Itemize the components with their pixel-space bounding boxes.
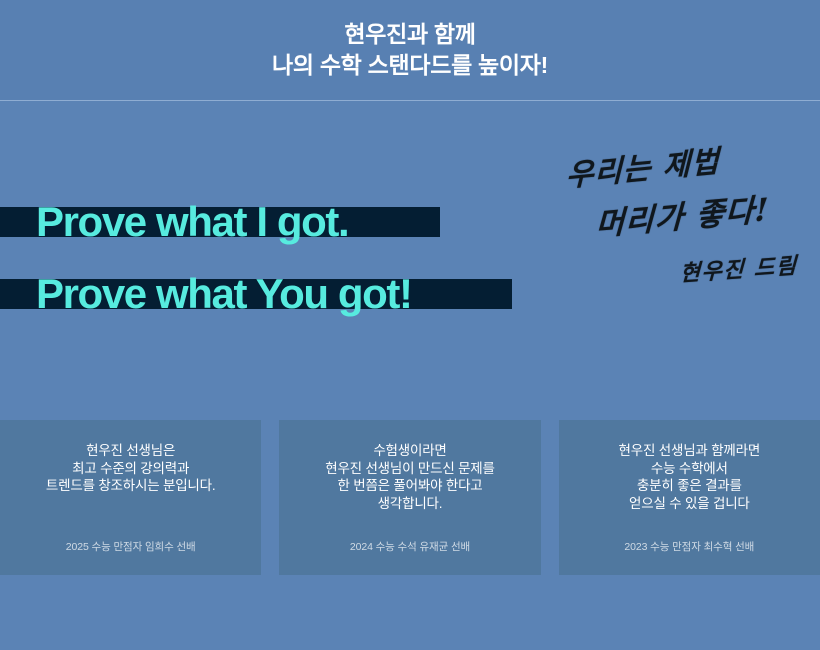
testimonial-quote-line: 생각합니다. [291, 495, 528, 513]
promo-banner-page: 현우진과 함께 나의 수학 스탠다드를 높이자! Prove what I go… [0, 0, 820, 650]
headline-text-1: Prove what I got. [36, 193, 348, 251]
testimonial-quote-line: 수능 수학에서 [571, 460, 808, 478]
page-title: 현우진과 함께 나의 수학 스탠다드를 높이자! [0, 19, 820, 81]
testimonial-attribution: 2023 수능 만점자 최수혁 선배 [559, 539, 820, 554]
testimonial-card[interactable]: 현우진 선생님과 함께라면 수능 수학에서 충분히 좋은 결과를 얻으실 수 있… [559, 420, 820, 575]
hero-section: Prove what I got. Prove what You got! 우리… [0, 101, 820, 420]
headline-text-2: Prove what You got! [36, 265, 412, 323]
banner-header: 현우진과 함께 나의 수학 스탠다드를 높이자! [0, 0, 820, 101]
testimonial-quote-line: 현우진 선생님과 함께라면 [571, 442, 808, 460]
testimonial-quote-line: 현우진 선생님이 만드신 문제를 [291, 460, 528, 478]
testimonial-card[interactable]: 수험생이라면 현우진 선생님이 만드신 문제를 한 번쯤은 풀어봐야 한다고 생… [279, 420, 540, 575]
testimonial-quote-line: 얻으실 수 있을 겁니다 [571, 495, 808, 513]
handwriting-signature: 현우진 드림 [679, 248, 798, 288]
testimonial-attribution: 2025 수능 만점자 임희수 선배 [0, 539, 261, 554]
handwriting-line-1: 우리는 제법 [566, 136, 720, 195]
page-title-line-2: 나의 수학 스탠다드를 높이자! [0, 50, 820, 81]
testimonial-card-list: 현우진 선생님은 최고 수준의 강의력과 트렌드를 창조하시는 분입니다. 20… [0, 420, 820, 575]
handwriting-line-2: 머리가 좋다! [595, 184, 770, 244]
testimonial-quote-line: 트렌드를 창조하시는 분입니다. [12, 477, 249, 495]
testimonial-quote-line: 충분히 좋은 결과를 [571, 477, 808, 495]
testimonial-quote: 현우진 선생님은 최고 수준의 강의력과 트렌드를 창조하시는 분입니다. [12, 442, 249, 495]
footer-spacer [0, 575, 820, 650]
testimonial-quote-line: 최고 수준의 강의력과 [12, 460, 249, 478]
page-title-line-1: 현우진과 함께 [0, 19, 820, 50]
testimonial-card[interactable]: 현우진 선생님은 최고 수준의 강의력과 트렌드를 창조하시는 분입니다. 20… [0, 420, 261, 575]
testimonial-quote: 현우진 선생님과 함께라면 수능 수학에서 충분히 좋은 결과를 얻으실 수 있… [571, 442, 808, 512]
testimonial-attribution: 2024 수능 수석 유재균 선배 [279, 539, 540, 554]
testimonial-quote-line: 현우진 선생님은 [12, 442, 249, 460]
testimonial-quote-line: 수험생이라면 [291, 442, 528, 460]
testimonial-quote-line: 한 번쯤은 풀어봐야 한다고 [291, 477, 528, 495]
testimonial-quote: 수험생이라면 현우진 선생님이 만드신 문제를 한 번쯤은 풀어봐야 한다고 생… [291, 442, 528, 512]
handwritten-note: 우리는 제법 머리가 좋다! 현우진 드림 [552, 151, 820, 351]
